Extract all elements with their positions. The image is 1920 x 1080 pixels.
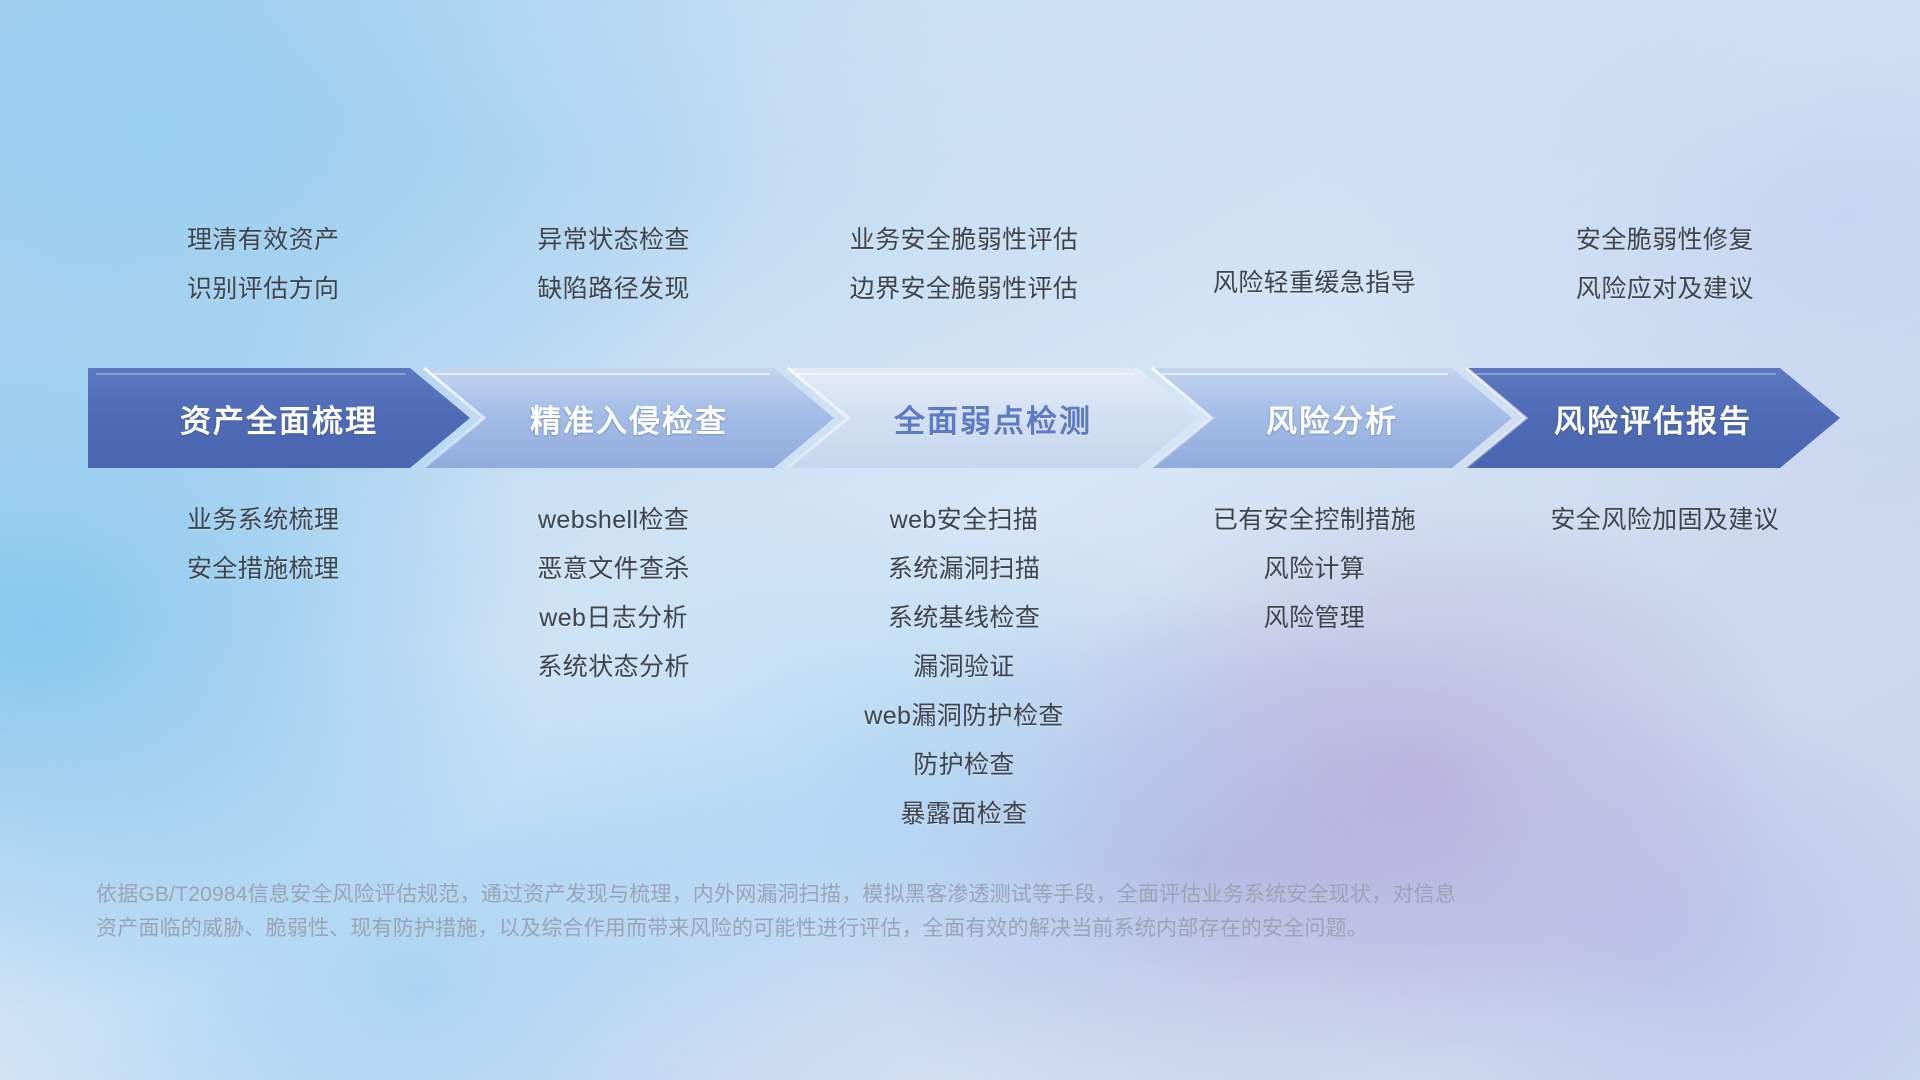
- chevron-shapes: [88, 368, 1840, 468]
- bottom-column-asset-inventory: 业务系统梳理安全措施梳理: [88, 508, 438, 827]
- bottom-detail-row: 业务系统梳理安全措施梳理webshell检查恶意文件查杀web日志分析系统状态分…: [88, 508, 1840, 827]
- footer-line-1: 依据GB/T20984信息安全风险评估规范，通过资产发现与梳理，内外网漏洞扫描，…: [96, 878, 1626, 912]
- top-item: 安全脆弱性修复: [1576, 228, 1754, 253]
- bottom-item: 系统状态分析: [537, 655, 689, 680]
- top-item: 边界安全脆弱性评估: [850, 277, 1079, 302]
- top-column-assessment-report: 安全脆弱性修复风险应对及建议: [1490, 228, 1840, 302]
- bottom-item: web漏洞防护检查: [864, 704, 1063, 729]
- top-item: 缺陷路径发现: [537, 277, 689, 302]
- top-column-intrusion-check: 异常状态检查缺陷路径发现: [438, 228, 788, 302]
- footer-line-2: 资产面临的威胁、脆弱性、现有防护措施，以及综合作用而带来风险的可能性进行评估，全…: [96, 912, 1626, 946]
- bottom-item: 安全风险加固及建议: [1551, 508, 1780, 533]
- top-item: 风险应对及建议: [1576, 277, 1754, 302]
- bottom-column-risk-analysis: 已有安全控制措施风险计算风险管理: [1139, 508, 1489, 827]
- process-chevron-banner: 资产全面梳理精准入侵检查全面弱点检测风险分析风险评估报告: [88, 368, 1840, 468]
- top-column-weakness-detection: 业务安全脆弱性评估边界安全脆弱性评估: [789, 228, 1139, 302]
- bottom-column-weakness-detection: web安全扫描系统漏洞扫描系统基线检查漏洞验证web漏洞防护检查防护检查暴露面检…: [789, 508, 1139, 827]
- slide-canvas: 理清有效资产识别评估方向异常状态检查缺陷路径发现业务安全脆弱性评估边界安全脆弱性…: [0, 0, 1920, 1080]
- bottom-item: web日志分析: [539, 606, 688, 631]
- bottom-item: 系统基线检查: [888, 606, 1040, 631]
- top-column-asset-inventory: 理清有效资产识别评估方向: [88, 228, 438, 302]
- bottom-item: 已有安全控制措施: [1213, 508, 1416, 533]
- top-column-risk-analysis: 风险轻重缓急指导: [1139, 228, 1489, 302]
- bottom-item: 安全措施梳理: [187, 557, 339, 582]
- top-item: 理清有效资产: [187, 228, 339, 253]
- top-item: 识别评估方向: [187, 277, 339, 302]
- footer-description: 依据GB/T20984信息安全风险评估规范，通过资产发现与梳理，内外网漏洞扫描，…: [96, 878, 1626, 946]
- top-item: 异常状态检查: [537, 228, 689, 253]
- bottom-item: 恶意文件查杀: [537, 557, 689, 582]
- bottom-item: 风险计算: [1264, 557, 1366, 582]
- bottom-item: 漏洞验证: [913, 655, 1015, 680]
- top-item: 业务安全脆弱性评估: [850, 228, 1079, 253]
- chevron-shape-1[interactable]: [88, 368, 470, 468]
- chevron-shape-4[interactable]: [1152, 368, 1512, 468]
- bottom-item: 防护检查: [913, 753, 1015, 778]
- top-annotations-row: 理清有效资产识别评估方向异常状态检查缺陷路径发现业务安全脆弱性评估边界安全脆弱性…: [88, 228, 1840, 302]
- bottom-item: 业务系统梳理: [187, 508, 339, 533]
- chevron-shape-5[interactable]: [1466, 368, 1840, 468]
- bottom-item: 暴露面检查: [901, 802, 1028, 827]
- top-item: 风险轻重缓急指导: [1213, 271, 1416, 296]
- bottom-item: 风险管理: [1264, 606, 1366, 631]
- bottom-column-intrusion-check: webshell检查恶意文件查杀web日志分析系统状态分析: [438, 508, 788, 827]
- bottom-item: 系统漏洞扫描: [888, 557, 1040, 582]
- bottom-item: webshell检查: [538, 508, 689, 533]
- bottom-item: web安全扫描: [890, 508, 1039, 533]
- bottom-column-assessment-report: 安全风险加固及建议: [1490, 508, 1840, 827]
